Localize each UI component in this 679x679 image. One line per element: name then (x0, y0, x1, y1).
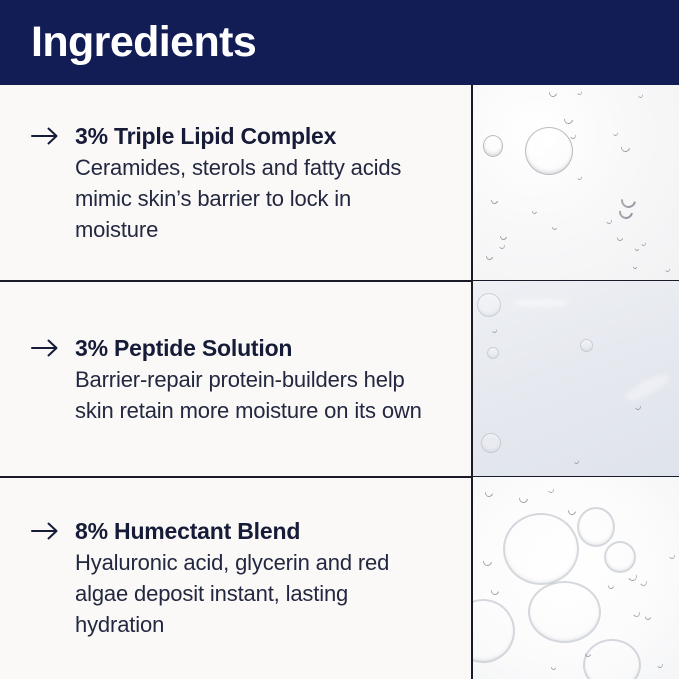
bubble (531, 208, 538, 215)
bubble (481, 555, 494, 568)
bubble (517, 492, 530, 505)
bubble (634, 246, 640, 252)
bubble (490, 196, 500, 206)
bubble (632, 264, 638, 270)
bubble (627, 571, 639, 583)
bubble (566, 505, 577, 516)
ingredient-text-column: 8% Humectant Blend Hyaluronic acid, glyc… (0, 477, 472, 679)
bubble (487, 347, 499, 359)
bubble (576, 89, 582, 95)
list-item: 3% Triple Lipid Complex Ceramides, stero… (30, 121, 458, 245)
bubble (656, 661, 664, 669)
ingredient-title: 3% Peptide Solution (75, 333, 458, 363)
bubble (562, 113, 575, 126)
ingredients-infographic: Ingredients 3% Triple Lipid Complex Cera… (0, 0, 679, 679)
bubble (640, 240, 646, 246)
bubble (580, 339, 593, 352)
ingredient-title: 3% Triple Lipid Complex (75, 121, 458, 151)
gel-sheen (513, 299, 569, 307)
bubble (607, 582, 615, 590)
bubble (473, 599, 515, 663)
ingredient-text-column: 3% Peptide Solution Barrier-repair prote… (0, 281, 472, 477)
ingredient-image (473, 281, 679, 477)
ingredient-description: Hyaluronic acid, glycerin and red algae … (75, 547, 435, 640)
arrow-right-icon (30, 125, 62, 147)
bubble (637, 92, 643, 98)
bubble (583, 639, 641, 679)
bubble (485, 252, 495, 262)
column-divider (471, 281, 473, 477)
bubble (612, 130, 618, 136)
serum-bubbles-closeup (473, 85, 679, 281)
page-title: Ingredients (31, 16, 256, 68)
bubble (525, 127, 573, 175)
ingredient-title: 8% Humectant Blend (75, 516, 458, 546)
bubble (616, 234, 624, 242)
bubble (577, 507, 615, 547)
ingredient-image (473, 85, 679, 281)
ingredients-list: 3% Triple Lipid Complex Ceramides, stero… (0, 85, 679, 679)
ingredient-description: Barrier-repair protein-builders help ski… (75, 364, 435, 426)
bubble (604, 541, 636, 573)
ingredient-text-column: 3% Triple Lipid Complex Ceramides, stero… (0, 85, 472, 281)
header-banner: Ingredients (0, 0, 679, 85)
bubble (481, 433, 501, 453)
bubble (605, 217, 613, 225)
bubble (619, 141, 632, 154)
ingredient-row: 8% Humectant Blend Hyaluronic acid, glyc… (0, 477, 679, 679)
ingredient-row: 3% Peptide Solution Barrier-repair prote… (0, 281, 679, 477)
bubble (477, 293, 501, 317)
bubble (551, 224, 558, 231)
bubble (569, 132, 577, 140)
column-divider (471, 477, 473, 679)
bubble (576, 174, 582, 180)
bubble (491, 327, 497, 333)
bubble (644, 613, 652, 621)
peptide-gel-closeup (473, 281, 679, 477)
bubble (483, 135, 503, 157)
bubble (503, 513, 579, 585)
bubble (498, 242, 506, 250)
bubble (668, 552, 676, 560)
ingredient-image (473, 477, 679, 679)
bubble (499, 232, 509, 242)
column-divider (471, 85, 473, 281)
bubble (483, 487, 494, 498)
bubble (547, 87, 558, 98)
bubble (573, 458, 579, 464)
bubble (547, 486, 555, 494)
ingredient-description: Ceramides, sterols and fatty acids mimic… (75, 152, 435, 245)
bubble (664, 266, 670, 272)
bubble (550, 664, 557, 671)
arrow-right-icon (30, 337, 62, 359)
bubble (634, 403, 642, 411)
bubble (632, 609, 641, 618)
list-item: 8% Humectant Blend Hyaluronic acid, glyc… (30, 516, 458, 640)
ingredient-row: 3% Triple Lipid Complex Ceramides, stero… (0, 85, 679, 281)
list-item: 3% Peptide Solution Barrier-repair prote… (30, 333, 458, 426)
gel-sheen (623, 371, 672, 406)
bubble (489, 585, 500, 596)
bubble (528, 581, 601, 643)
arrow-right-icon (30, 520, 62, 542)
bubble (639, 578, 648, 587)
bubble-highlight (539, 137, 557, 149)
humectant-bubbles-closeup (473, 477, 679, 679)
